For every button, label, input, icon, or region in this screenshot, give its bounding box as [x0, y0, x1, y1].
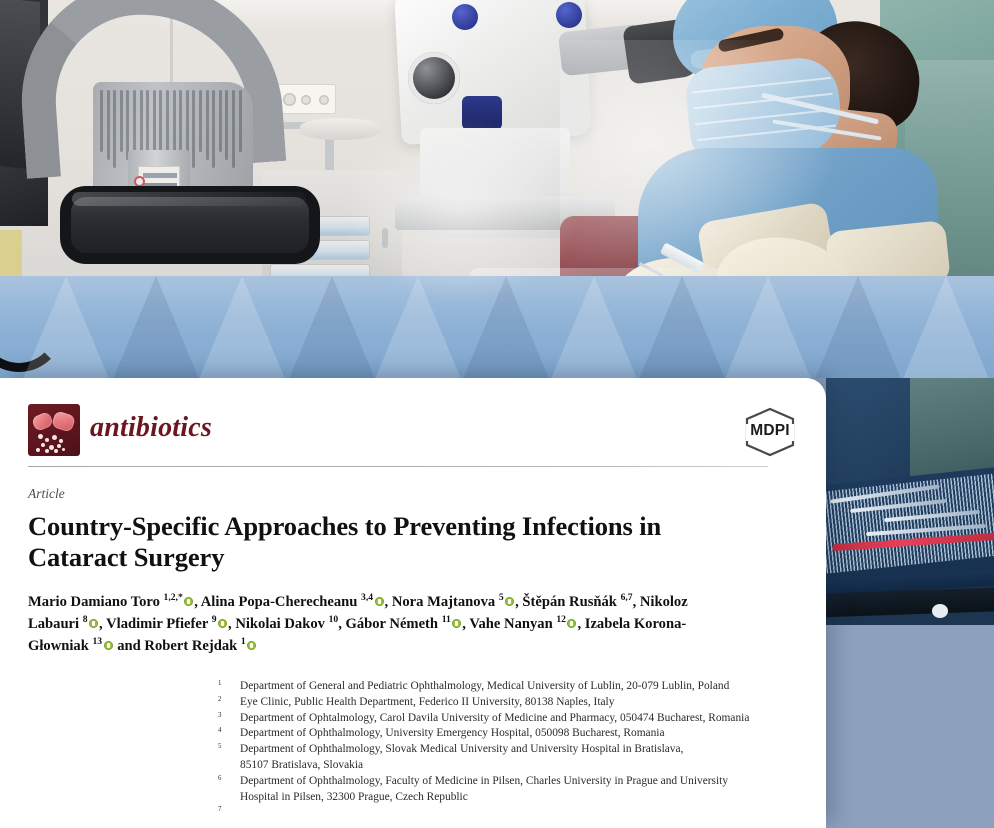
affiliation-item: 1Department of General and Pediatric Oph…: [218, 679, 798, 695]
vent-slat: [126, 90, 129, 160]
author-name: Vahe Nanyan: [469, 616, 556, 632]
orcid-icon[interactable]: [452, 619, 461, 628]
affiliation-item: 4Department of Ophthalmology, University…: [218, 726, 798, 742]
affiliation-number: 4: [218, 726, 240, 739]
author-affiliation-marker: 12: [556, 614, 566, 625]
vent-slat: [100, 90, 103, 152]
orcid-icon[interactable]: [104, 641, 113, 650]
vent-slat: [232, 90, 235, 168]
vent-slat: [159, 90, 162, 152]
affiliation-number: 3: [218, 711, 240, 724]
masthead-divider: [28, 466, 768, 467]
affiliation-item: 3Department of Ophtalmology, Carol Davil…: [218, 711, 798, 727]
affiliation-number: 6: [218, 774, 240, 787]
vent-slat: [140, 90, 143, 152]
affiliation-line: Department of Ophthalmology, Faculty of …: [240, 774, 798, 790]
drape-fold: [812, 276, 904, 378]
affiliation-text: Eye Clinic, Public Health Department, Fe…: [240, 695, 798, 711]
article-type-label: Article: [28, 486, 798, 502]
author-name: Robert Rejdak: [144, 638, 240, 654]
affiliation-line: Eye Clinic, Public Health Department, Fe…: [240, 695, 798, 711]
drape-fold: [460, 276, 552, 378]
microscope-knob-right: [556, 2, 582, 28]
author-affiliation-marker: 5: [499, 592, 504, 603]
vent-slat: [107, 90, 110, 160]
author-separator: ,: [633, 594, 640, 610]
affiliation-text: Department of Ophthalmology, Slovak Medi…: [240, 742, 798, 774]
drape-fold: [286, 276, 378, 378]
orcid-icon[interactable]: [567, 619, 576, 628]
vent-slat: [113, 90, 116, 168]
drape-fold: [372, 276, 464, 378]
affiliation-line: Department of Ophthalmology, University …: [240, 726, 798, 742]
journal-masthead: antibiotics MDPI: [28, 378, 798, 462]
microscope-blue-knob-housing: [462, 96, 502, 130]
orcid-icon[interactable]: [505, 597, 514, 606]
orcid-icon[interactable]: [184, 597, 193, 606]
affiliation-item: 7: [218, 805, 798, 818]
affiliation-number: 1: [218, 679, 240, 692]
author-affiliation-marker: 6,7: [621, 592, 633, 603]
affiliation-text: Department of Ophthalmology, Faculty of …: [240, 774, 798, 806]
mask-pleat: [695, 109, 834, 125]
author-separator: and: [114, 638, 145, 654]
drape-fold: [722, 276, 814, 378]
author-affiliation-marker: 8: [83, 614, 88, 625]
affiliation-line: Department of Ophtalmology, Carol Davila…: [240, 711, 798, 727]
author-name: Vladimir Pfiefer: [106, 616, 212, 632]
instrument-tray-photo: [826, 378, 994, 625]
hero-operating-room-photo: [0, 0, 994, 378]
affiliation-line: Department of General and Pediatric Opht…: [240, 679, 798, 695]
affiliation-text: Department of Ophthalmology, University …: [240, 726, 798, 742]
author-separator: ,: [577, 616, 584, 632]
author-name: Nora Majtanova: [392, 594, 499, 610]
author-affiliation-marker: 3,4: [361, 592, 373, 603]
handle-highlight: [72, 192, 306, 206]
microscope-objective-lens: [408, 52, 460, 104]
affiliation-line: 85107 Bratislava, Slovakia: [240, 758, 798, 774]
affiliation-item: 6Department of Ophthalmology, Faculty of…: [218, 774, 798, 806]
page-background-fill: [826, 625, 994, 828]
journal-branding: antibiotics: [28, 404, 212, 456]
affiliation-item: 2Eye Clinic, Public Health Department, F…: [218, 695, 798, 711]
orcid-icon[interactable]: [247, 641, 256, 650]
vent-slat: [225, 90, 228, 160]
drape-fold: [548, 276, 640, 378]
author-affiliation-marker: 13: [92, 636, 102, 647]
mdpi-hexagon-logo: MDPI: [742, 406, 798, 458]
tray-top: [300, 118, 380, 140]
author-affiliation-marker: 11: [442, 614, 451, 625]
drape-fold: [20, 276, 112, 378]
article-pdf-page[interactable]: antibiotics MDPI Article Country-Specifi…: [0, 378, 826, 828]
vent-slat: [206, 90, 209, 160]
orcid-icon[interactable]: [375, 597, 384, 606]
author-name: Mario Damiano Toro: [28, 594, 164, 610]
author-name: Alina Popa-Cherecheanu: [201, 594, 361, 610]
drape-fold: [196, 276, 288, 378]
microscope-knob-left: [452, 4, 478, 30]
article-title: Country-Specific Approaches to Preventin…: [28, 511, 728, 574]
author-affiliation-marker: 1: [241, 636, 246, 647]
orcid-icon[interactable]: [218, 619, 227, 628]
vent-slat: [239, 90, 242, 152]
drape-fold: [110, 276, 202, 378]
white-highlight: [932, 604, 948, 618]
vent-slat: [192, 90, 195, 168]
affiliation-list: 1Department of General and Pediatric Oph…: [218, 679, 798, 818]
author-list: Mario Damiano Toro 1,2,*, Alina Popa-Che…: [28, 591, 728, 658]
affiliation-number: 2: [218, 695, 240, 708]
vent-slat: [179, 90, 182, 152]
vent-slat: [219, 90, 222, 152]
vent-slat: [120, 90, 123, 152]
affiliation-number: 7: [218, 805, 240, 818]
vent-slat: [212, 90, 215, 168]
mask-pleat: [692, 77, 831, 93]
author-name: Štěpán Rusňák: [522, 594, 620, 610]
affiliation-item: 5Department of Ophthalmology, Slovak Med…: [218, 742, 798, 774]
author-name: Nikolai Dakov: [235, 616, 328, 632]
drape-fold: [636, 276, 728, 378]
author-separator: ,: [385, 594, 392, 610]
orcid-icon[interactable]: [89, 619, 98, 628]
affiliation-line: Department of Ophthalmology, Slovak Medi…: [240, 742, 798, 758]
author-affiliation-marker: 10: [329, 614, 339, 625]
author-affiliation-marker: 9: [212, 614, 217, 625]
antibiotics-pills-logo: [28, 404, 80, 456]
journal-name: antibiotics: [90, 414, 212, 446]
affiliation-text: Department of General and Pediatric Opht…: [240, 679, 798, 695]
vent-slat: [199, 90, 202, 152]
mdpi-wordmark: MDPI: [742, 422, 798, 440]
drape-fold: [900, 276, 992, 378]
affiliation-number: 5: [218, 742, 240, 755]
affiliation-line: Hospital in Pilsen, 32300 Prague, Czech …: [240, 790, 798, 806]
page-root: antibiotics MDPI Article Country-Specifi…: [0, 0, 994, 828]
author-affiliation-marker: 1,2,*: [164, 592, 183, 603]
affiliation-text: Department of Ophtalmology, Carol Davila…: [240, 711, 798, 727]
author-name: Gábor Németh: [345, 616, 441, 632]
